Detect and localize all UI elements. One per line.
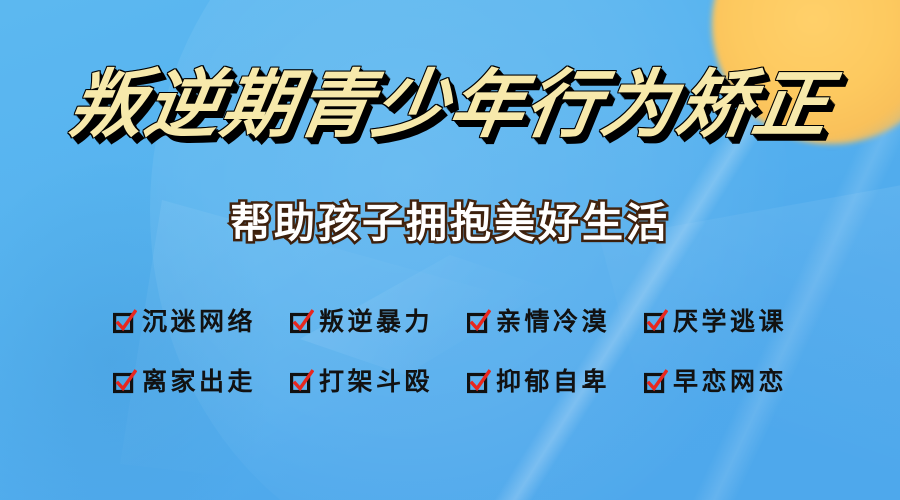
list-item[interactable]: 沉迷网络 [113, 309, 256, 335]
list-item[interactable]: 抑郁自卑 [467, 369, 610, 395]
checkbox-checked-icon[interactable] [467, 309, 491, 335]
list-item-label: 离家出走 [142, 370, 256, 395]
list-item-label: 抑郁自卑 [496, 370, 610, 395]
list-item[interactable]: 早恋网恋 [644, 369, 787, 395]
list-item-label: 叛逆暴力 [319, 310, 433, 335]
checkbox-checked-icon[interactable] [644, 369, 668, 395]
list-item[interactable]: 离家出走 [113, 369, 256, 395]
checkbox-checked-icon[interactable] [113, 309, 137, 335]
list-item-label: 早恋网恋 [673, 370, 787, 395]
checkbox-checked-icon[interactable] [290, 309, 314, 335]
problem-checklist: 沉迷网络 叛逆暴力 亲情冷漠 [50, 292, 850, 412]
list-item-label: 沉迷网络 [142, 310, 256, 335]
list-item-label: 厌学逃课 [673, 310, 787, 335]
list-item-label: 亲情冷漠 [496, 310, 610, 335]
checkbox-checked-icon[interactable] [467, 369, 491, 395]
checklist-row: 沉迷网络 叛逆暴力 亲情冷漠 [50, 292, 850, 352]
list-item-label: 打架斗殴 [319, 370, 433, 395]
list-item[interactable]: 亲情冷漠 [467, 309, 610, 335]
list-item[interactable]: 叛逆暴力 [290, 309, 433, 335]
list-item[interactable]: 厌学逃课 [644, 309, 787, 335]
page-title: 叛逆期青少年行为矫正 [64, 68, 836, 142]
promo-banner: 叛逆期青少年行为矫正 帮助孩子拥抱美好生活 沉迷网络 [0, 0, 900, 500]
checklist-row: 离家出走 打架斗殴 抑郁自卑 [50, 352, 850, 412]
checkbox-checked-icon[interactable] [113, 369, 137, 395]
title-container: 叛逆期青少年行为矫正 [0, 68, 900, 142]
list-item[interactable]: 打架斗殴 [290, 369, 433, 395]
subtitle-container: 帮助孩子拥抱美好生活 [0, 203, 900, 244]
page-subtitle: 帮助孩子拥抱美好生活 [230, 203, 670, 244]
checkbox-checked-icon[interactable] [290, 369, 314, 395]
checkbox-checked-icon[interactable] [644, 309, 668, 335]
